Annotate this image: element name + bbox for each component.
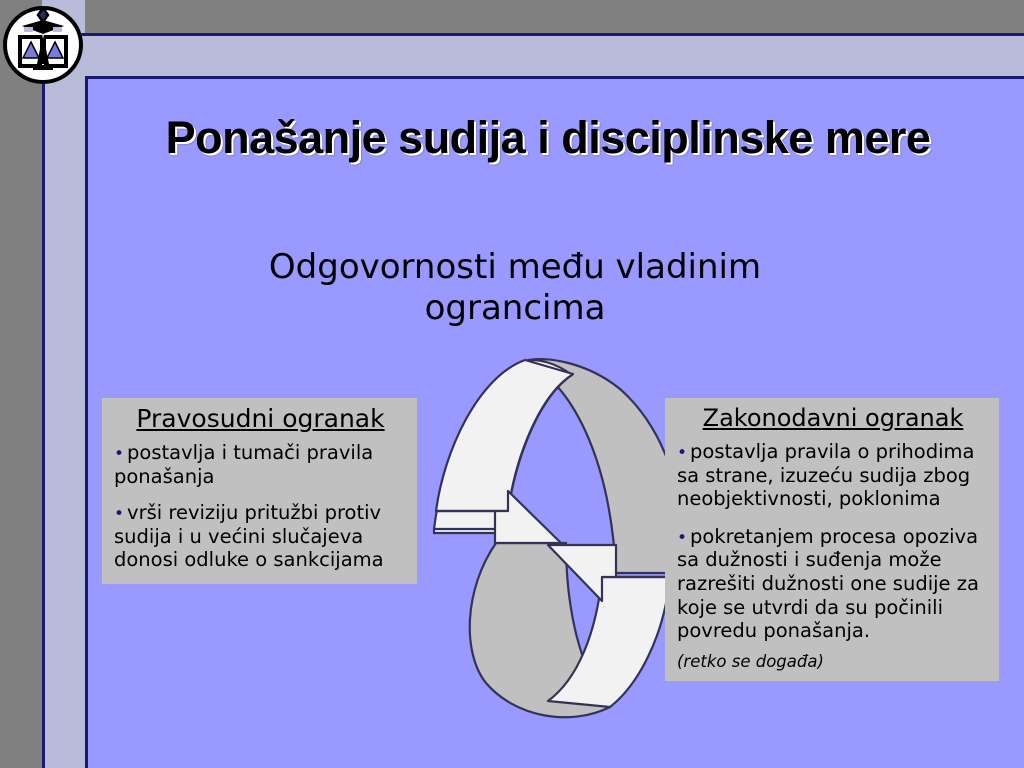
legislative-branch-box: Zakonodavni ogranak •postavlja pravila o… — [665, 398, 999, 681]
cycle-arrow-down-body — [436, 360, 573, 511]
slide-subtitle-line-2: ograncima — [255, 288, 775, 329]
bullet-icon: • — [677, 528, 690, 548]
frame-left-light-band — [42, 0, 85, 768]
scales-of-justice-icon — [2, 2, 84, 84]
bullet-icon: • — [114, 444, 127, 464]
slide-canvas: Ponašanje sudija i disciplinske mere Odg… — [0, 0, 1024, 768]
list-item-text: postavlja i tumači pravila ponašanja — [114, 441, 373, 488]
circular-cycle-diagram — [420, 345, 690, 730]
list-item-text: postavlja pravila o prihodima sa strane,… — [677, 440, 974, 510]
bullet-icon: • — [114, 504, 127, 524]
legislative-branch-note: (retko se događa) — [677, 653, 989, 671]
list-item-text: pokretanjem procesa opoziva sa dužnosti … — [677, 525, 979, 642]
judicial-branch-box: Pravosudni ogranak •postavlja i tumači p… — [102, 398, 417, 584]
slide-title: Ponašanje sudija i disciplinske mere — [88, 112, 1008, 164]
list-item-text: vrši reviziju pritužbi protiv sudija i u… — [114, 501, 384, 571]
judicial-branch-heading: Pravosudni ogranak — [114, 404, 407, 433]
frame-rule-top-outer — [42, 33, 1024, 36]
frame-rule-left-outer — [42, 33, 45, 768]
slide-subtitle-line-1: Odgovornosti među vladinim — [255, 247, 775, 288]
bullet-icon: • — [677, 443, 690, 463]
frame-left-gray-band — [0, 0, 42, 768]
legislative-branch-heading: Zakonodavni ogranak — [677, 404, 989, 432]
frame-top-light-band — [42, 33, 1024, 77]
list-item: •postavlja pravila o prihodima sa strane… — [677, 440, 989, 511]
list-item: •vrši reviziju pritužbi protiv sudija i … — [114, 501, 407, 572]
list-item: •postavlja i tumači pravila ponašanja — [114, 441, 407, 488]
list-item: •pokretanjem procesa opoziva sa dužnosti… — [677, 525, 989, 643]
slide-subtitle: Odgovornosti među vladinim ograncima — [255, 247, 775, 330]
frame-top-gray-band — [42, 0, 1024, 33]
